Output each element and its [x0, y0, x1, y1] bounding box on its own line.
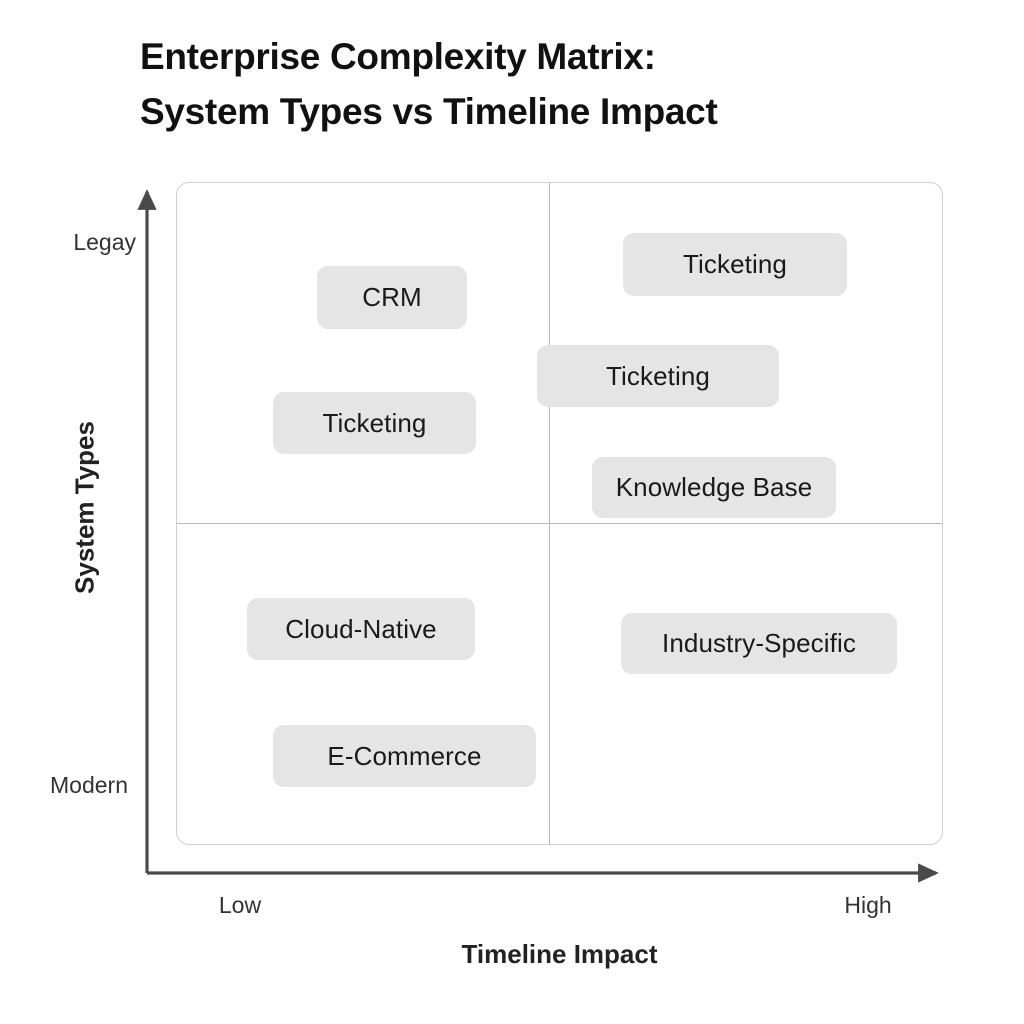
matrix-item-box[interactable]: Industry-Specific [621, 613, 897, 674]
y-axis-label: System Types [70, 368, 101, 648]
page-title: Enterprise Complexity Matrix: System Typ… [140, 30, 980, 140]
matrix-item-label: Ticketing [683, 249, 787, 280]
matrix-item-box[interactable]: Ticketing [623, 233, 847, 296]
x-axis-tick-left: Low [172, 892, 308, 919]
x-axis-label: Timeline Impact [176, 939, 943, 970]
matrix-item-box[interactable]: CRM [317, 266, 467, 329]
x-axis-tick-right: High [800, 892, 936, 919]
quadrant-divider-horizontal [177, 523, 942, 524]
matrix-item-box[interactable]: E-Commerce [273, 725, 536, 787]
matrix-item-box[interactable]: Ticketing [273, 392, 476, 454]
quadrant-divider-vertical [549, 183, 550, 844]
matrix-item-box[interactable]: Ticketing [537, 345, 779, 407]
matrix-item-label: Cloud-Native [285, 614, 437, 645]
matrix-item-label: Knowledge Base [616, 472, 813, 503]
matrix-item-label: Ticketing [323, 408, 427, 439]
matrix-item-label: E-Commerce [327, 741, 481, 772]
y-axis-tick-top: Legay [0, 229, 136, 256]
matrix-item-box[interactable]: Cloud-Native [247, 598, 475, 660]
matrix-item-label: Industry-Specific [662, 628, 856, 659]
matrix-item-label: CRM [362, 282, 422, 313]
matrix-item-box[interactable]: Knowledge Base [592, 457, 836, 518]
chart-canvas: Enterprise Complexity Matrix: System Typ… [0, 0, 1024, 1024]
matrix-item-label: Ticketing [606, 361, 710, 392]
y-axis-tick-bottom: Modern [0, 772, 128, 799]
